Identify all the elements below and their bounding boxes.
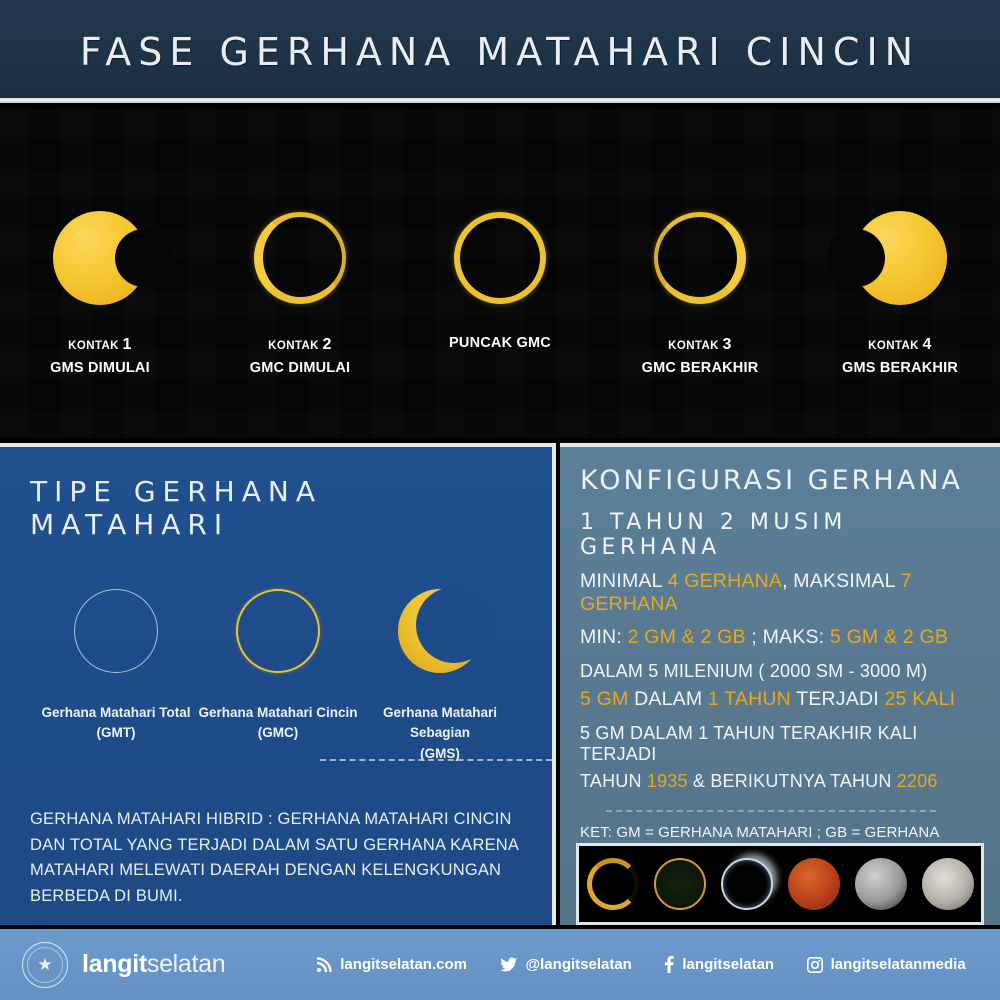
langitselatan-seal-logo-icon: ★	[22, 942, 68, 988]
fivegm-value: 5 GM	[580, 688, 628, 710]
minmaks-max-value: 5 GM & 2 GB	[830, 626, 948, 648]
photo-lunar-partial-icon	[855, 858, 907, 910]
fivegm-period: 1 TAHUN	[708, 688, 791, 710]
phase-kontak-number: 3	[723, 336, 732, 353]
phase-caption: PUNCAK GMC	[405, 333, 595, 354]
social-link-instagram[interactable]: langitselatanmedia	[807, 956, 966, 973]
phase-kontak-line: KONTAK 2	[205, 333, 395, 356]
dashed-divider	[320, 759, 552, 761]
sun-disc-bitten-left-icon	[853, 211, 947, 305]
phase-caption: KONTAK 4 GMS BERAKHIR	[805, 333, 995, 379]
footer-bar: ★ langitselatan langitselatan.com @langi…	[0, 929, 1000, 1000]
social-link-facebook[interactable]: langitselatan	[664, 956, 774, 973]
header-band: FASE GERHANA MATAHARI CINCIN	[0, 0, 1000, 103]
config-line-minmax: MINIMAL 4 GERHANA, MAKSIMAL 7 GERHANA	[580, 570, 984, 616]
phase-kontak-label: KONTAK	[68, 340, 119, 352]
phase-item-puncak: PUNCAK GMC	[405, 203, 595, 354]
social-label: @langitselatan	[526, 956, 632, 973]
social-label: langitselatanmedia	[831, 956, 966, 973]
eclipse-configuration-panel: KONFIGURASI GERHANA 1 TAHUN 2 MUSIM GERH…	[560, 443, 1000, 925]
brand-name-bold: langit	[82, 950, 147, 978]
type-figure	[360, 581, 520, 681]
brand-name-light: selatan	[147, 950, 226, 978]
social-link-website[interactable]: langitselatan.com	[316, 956, 467, 973]
social-links: langitselatan.com @langitselatan langits…	[300, 956, 1000, 973]
eclipse-type-gms: Gerhana Matahari Sebagian (GMS)	[360, 581, 520, 764]
fivegm-middle: TERJADI	[791, 688, 885, 710]
phase-kontak-line: KONTAK 4	[805, 333, 995, 356]
type-label: Gerhana Matahari Total (GMT)	[36, 703, 196, 744]
photo-full-moon-icon	[922, 858, 974, 910]
eclipse-types-panel: TIPE GERHANA MATAHARI Gerhana Matahari T…	[0, 443, 556, 925]
type-label: Gerhana Matahari Sebagian (GMS)	[360, 703, 520, 764]
fivegm-prefix: DALAM	[628, 688, 707, 710]
phase-sub-label: GMS DIMULAI	[5, 358, 195, 379]
phase-figure	[5, 203, 195, 313]
hybrid-eclipse-text: GERHANA MATAHARI HIBRID : GERHANA MATAHA…	[30, 807, 530, 909]
photo-annular-dark-disc-icon	[654, 858, 706, 910]
total-eclipse-ring-icon	[74, 589, 158, 673]
config-line-5gm: 5 GM DALAM 1 TAHUN TERJADI 25 KALI	[580, 688, 984, 711]
eclipse-type-gmt: Gerhana Matahari Total (GMT)	[36, 581, 196, 764]
phase-item-kontak-4: KONTAK 4 GMS BERAKHIR	[805, 203, 995, 379]
phase-figure	[205, 203, 395, 313]
brand-block: ★ langitselatan	[0, 942, 300, 988]
partial-eclipse-crescent-icon	[398, 589, 482, 673]
configuration-title: KONFIGURASI GERHANA	[580, 465, 984, 496]
tahun-middle: & BERIKUTNYA TAHUN	[688, 771, 897, 791]
dashed-divider	[606, 810, 936, 812]
facebook-icon	[664, 956, 674, 973]
phase-kontak-label: KONTAK	[868, 340, 919, 352]
phase-figure	[805, 203, 995, 313]
type-label-line2: (GMC)	[198, 723, 358, 743]
phase-caption: KONTAK 2 GMC DIMULAI	[205, 333, 395, 379]
rss-icon	[316, 957, 332, 973]
eclipse-photo-strip	[576, 843, 984, 925]
tahun-last-year: 1935	[647, 771, 688, 791]
config-line-minmaks: MIN: 2 GM & 2 GB ; MAKS: 5 GM & 2 GB	[580, 626, 984, 649]
config-line-tahun: TAHUN 1935 & BERIKUTNYA TAHUN 2206	[580, 771, 984, 792]
eclipse-phase-strip: KONTAK 1 GMS DIMULAI KONTAK 2 GMC DIMULA…	[0, 108, 1000, 438]
config-line-season: 1 TAHUN 2 MUSIM GERHANA	[580, 510, 984, 560]
phase-sub-label: PUNCAK GMC	[405, 333, 595, 354]
type-label-line1: Gerhana Matahari Cincin	[198, 703, 358, 723]
phase-kontak-number: 4	[923, 336, 932, 353]
annular-ring-icon	[654, 212, 746, 304]
instagram-icon	[807, 957, 823, 973]
phase-kontak-label: KONTAK	[268, 340, 319, 352]
config-line-milenium: DALAM 5 MILENIUM ( 2000 SM - 3000 M)	[580, 661, 984, 682]
annular-eclipse-ring-icon	[236, 589, 320, 673]
phase-caption: KONTAK 1 GMS DIMULAI	[5, 333, 195, 379]
minmax-min-value: 4 GERHANA	[668, 570, 783, 592]
minmax-middle: , MAKSIMAL	[782, 570, 901, 592]
social-label: langitselatan	[682, 956, 774, 973]
phase-kontak-number: 1	[123, 336, 132, 353]
eclipse-type-gmc: Gerhana Matahari Cincin (GMC)	[198, 581, 358, 764]
phase-item-kontak-2: KONTAK 2 GMC DIMULAI	[205, 203, 395, 379]
page-title: FASE GERHANA MATAHARI CINCIN	[80, 30, 920, 74]
eclipse-types-row: Gerhana Matahari Total (GMT) Gerhana Mat…	[30, 581, 526, 764]
eclipse-types-title: TIPE GERHANA MATAHARI	[30, 475, 526, 541]
type-label-line1: Gerhana Matahari Total	[36, 703, 196, 723]
phase-kontak-line: KONTAK 1	[5, 333, 195, 356]
infographic-page: FASE GERHANA MATAHARI CINCIN KONTAK 1 GM…	[0, 0, 1000, 1000]
brand-name: langitselatan	[82, 950, 225, 979]
annular-ring-icon	[454, 212, 546, 304]
type-figure	[36, 581, 196, 681]
phase-item-kontak-3: KONTAK 3 GMC BERAKHIR	[605, 203, 795, 379]
phase-kontak-number: 2	[323, 336, 332, 353]
fivegm-count: 25 KALI	[884, 688, 955, 710]
phase-sub-label: GMC BERAKHIR	[605, 358, 795, 379]
phase-kontak-line: KONTAK 3	[605, 333, 795, 356]
phase-sub-label: GMS BERAKHIR	[805, 358, 995, 379]
phase-figure	[605, 203, 795, 313]
minmaks-middle: ; MAKS:	[746, 626, 830, 648]
photo-total-diamond-ring-icon	[721, 858, 773, 910]
sun-disc-bitten-right-icon	[53, 211, 147, 305]
config-line-terakhir: 5 GM DALAM 1 TAHUN TERAKHIR KALI TERJADI	[580, 723, 984, 765]
social-label: langitselatan.com	[340, 956, 467, 973]
type-label-line1: Gerhana Matahari Sebagian	[360, 703, 520, 744]
minmaks-min-value: 2 GM & 2 GB	[628, 626, 746, 648]
type-figure	[198, 581, 358, 681]
phase-caption: KONTAK 3 GMC BERAKHIR	[605, 333, 795, 379]
tahun-next-year: 2206	[897, 771, 938, 791]
seal-glyph-icon: ★	[37, 956, 52, 973]
twitter-icon	[500, 957, 518, 973]
minmax-prefix: MINIMAL	[580, 570, 668, 592]
phase-kontak-label: KONTAK	[668, 340, 719, 352]
type-label-line2: (GMT)	[36, 723, 196, 743]
social-link-twitter[interactable]: @langitselatan	[500, 956, 632, 973]
annular-ring-icon	[254, 212, 346, 304]
phase-sub-label: GMC DIMULAI	[205, 358, 395, 379]
photo-annular-crescent-icon	[587, 858, 639, 910]
tahun-prefix: TAHUN	[580, 771, 647, 791]
type-label: Gerhana Matahari Cincin (GMC)	[198, 703, 358, 744]
phase-figure	[405, 203, 595, 313]
phase-item-kontak-1: KONTAK 1 GMS DIMULAI	[5, 203, 195, 379]
minmaks-prefix: MIN:	[580, 626, 628, 648]
photo-lunar-total-red-icon	[788, 858, 840, 910]
